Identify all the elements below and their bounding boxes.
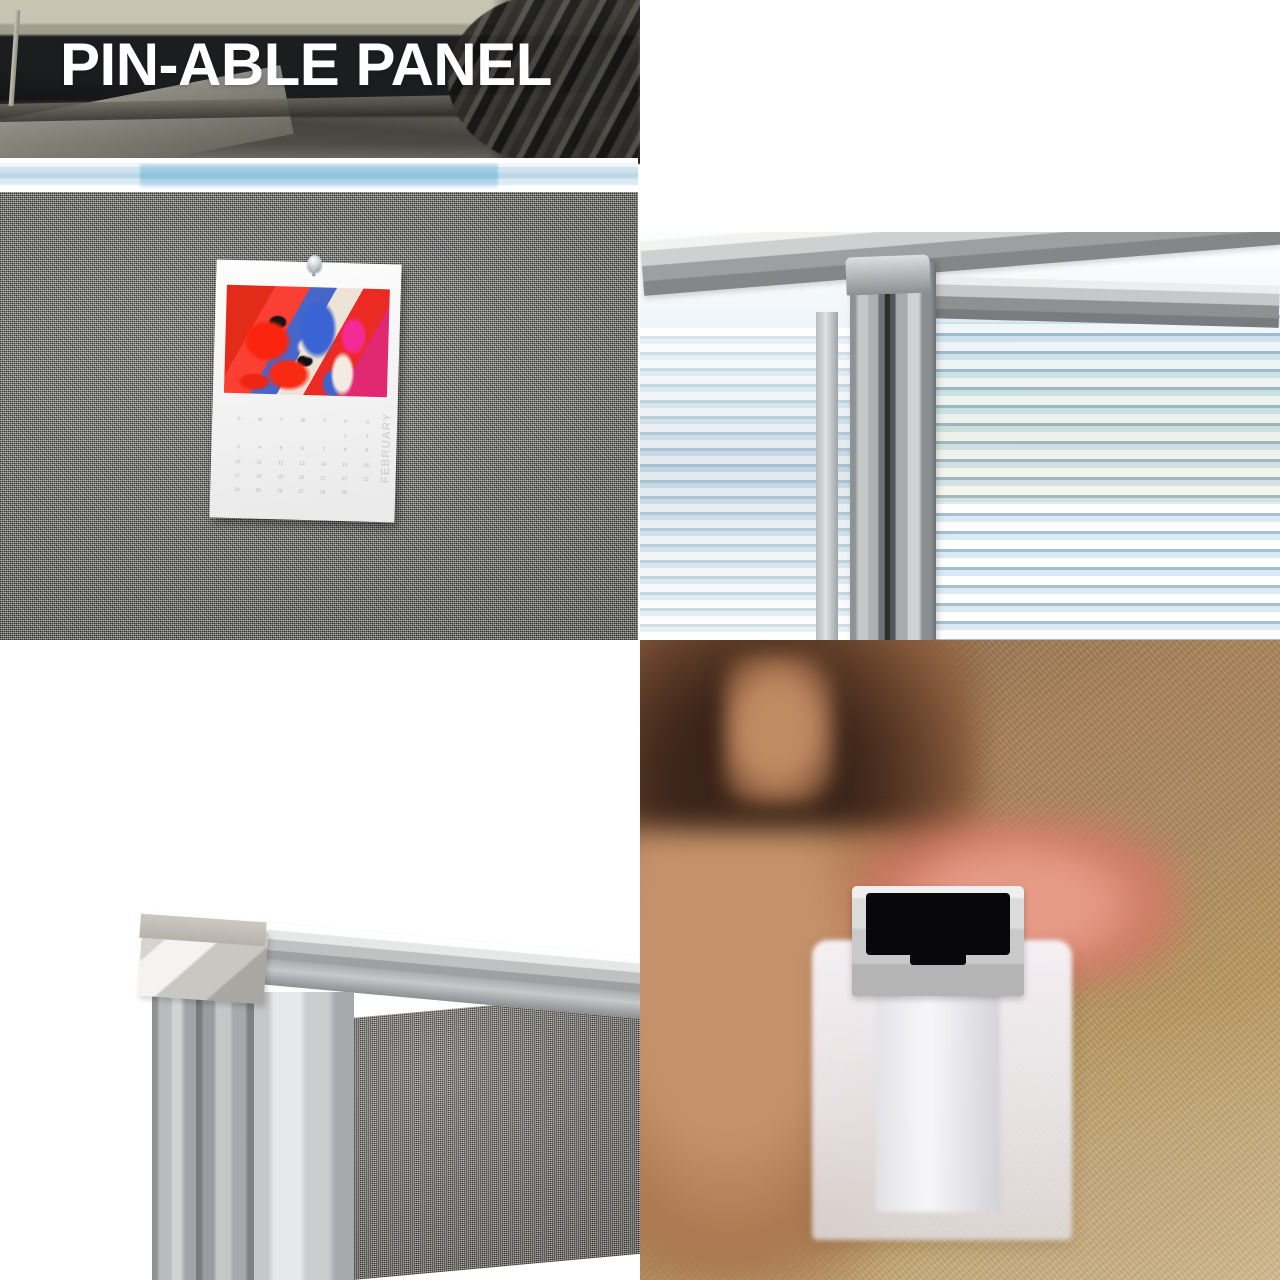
ceiling-pipe [9, 10, 21, 106]
calendar-day: 3 [237, 445, 240, 450]
aluminum-post-connector-photo [640, 232, 1280, 640]
weekday-initial: T [280, 418, 283, 423]
calendar-day: 11 [256, 460, 261, 465]
weekday-initial: T [323, 419, 326, 424]
calendar-month-label: FEBRUARY [379, 412, 393, 483]
weekday-initial: M [258, 417, 262, 422]
calendar-day: 19 [277, 475, 283, 480]
post-end-cap [845, 254, 930, 295]
calendar-day: 24 [234, 488, 240, 493]
calendar-day: 2 [366, 435, 369, 440]
calendar-day: 15 [342, 463, 348, 468]
calendar-day: 8 [344, 448, 347, 453]
calendar-day: 29 [341, 491, 347, 496]
calendar-day: 6 [301, 447, 304, 452]
window-view-sky [932, 322, 1280, 502]
calendar-day: 16 [363, 463, 369, 468]
calendar-day: 23 [363, 478, 369, 483]
calendar-day: 13 [299, 462, 305, 467]
weekday-initial: S [366, 420, 369, 425]
channel-slot-cavity [866, 893, 1010, 955]
panel-pin-able: S M T W T F S 1 2 3 4 5 6 7 8 9 [0, 0, 640, 640]
calendar-artwork [224, 285, 390, 398]
calendar-day: 22 [342, 477, 348, 482]
panel-top-frame [0, 158, 638, 194]
weekday-initial: S [237, 417, 240, 422]
panel-edge-left [816, 312, 838, 640]
calendar-day: 25 [255, 489, 261, 494]
calendar-day: 18 [256, 475, 262, 480]
calendar-day: 10 [235, 460, 241, 465]
panel-customizable-configuration: CUSTOMIZABLECONFIGURATION [640, 0, 1280, 640]
calendar-grid: S M T W T F S 1 2 3 4 5 6 7 8 9 [226, 412, 378, 502]
frame-post-rear [152, 958, 196, 1280]
window-blinds-left [640, 328, 875, 640]
aluminum-connector-post [850, 262, 936, 640]
push-pin-icon [307, 255, 321, 271]
calendar-day: 5 [279, 447, 282, 452]
fabric-panel-insert [352, 992, 640, 1280]
calendar-day: 27 [298, 490, 304, 495]
weekday-initial: W [301, 419, 306, 424]
wall-calendar: S M T W T F S 1 2 3 4 5 6 7 8 9 [209, 259, 401, 522]
panel-toolless-assembly: TOOLLESSASSEMBLY [640, 640, 1280, 1280]
aluminum-channel-extrusion [852, 886, 1024, 996]
calendar-day: 1 [344, 434, 347, 439]
frame-post-front [254, 992, 354, 1280]
aluminum-frame-corner-photo [0, 640, 640, 1280]
calendar-day: 21 [320, 476, 326, 481]
calendar-day: 12 [278, 461, 284, 466]
calendar-day: 7 [322, 448, 325, 453]
panel-aluminum-frame: LIGHT AIRCRAFTALUMINUMFRAME [0, 640, 640, 1280]
feature-collage: S M T W T F S 1 2 3 4 5 6 7 8 9 [0, 0, 1280, 1280]
toolless-assembly-photo [640, 640, 1280, 1280]
calendar-day: 4 [258, 446, 261, 451]
calendar-day: 20 [299, 476, 305, 481]
calendar-day: 28 [320, 491, 326, 496]
weekday-initial: F [344, 420, 347, 425]
headline-pin-able-panel: PIN-ABLE PANEL [60, 36, 630, 93]
calendar-day: 9 [365, 449, 368, 454]
person-ear-blurred [724, 654, 834, 804]
frame-post-middle [196, 970, 254, 1280]
panel-tongue [876, 970, 1000, 1212]
calendar-day: 26 [277, 490, 283, 495]
calendar-day: 17 [234, 474, 240, 479]
calendar-day: 14 [321, 462, 327, 467]
